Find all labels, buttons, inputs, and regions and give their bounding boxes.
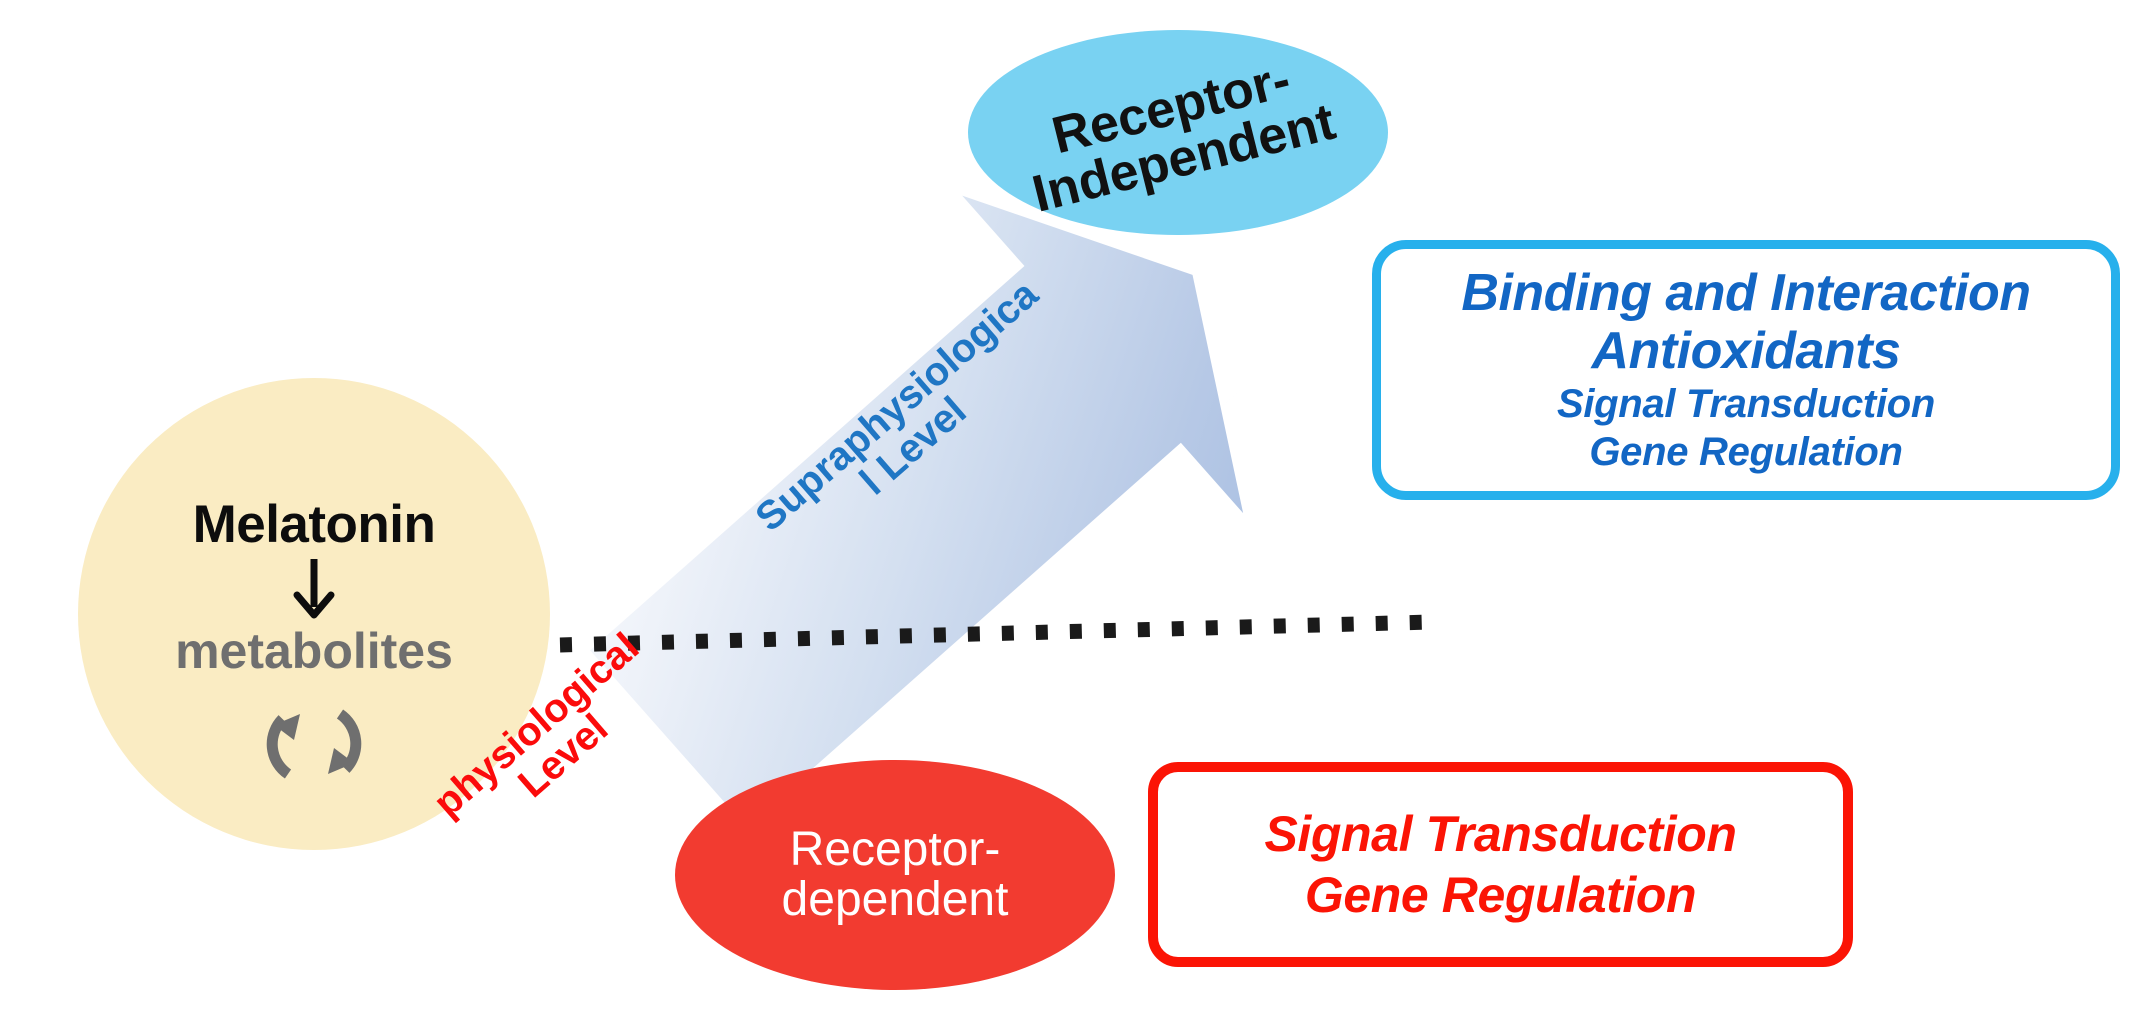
blue-box-line-3: Signal Transduction [1557,380,1935,428]
supraphysiological-level-label: Supraphysiologica l Level [749,292,1052,570]
diagram-canvas: Melatonin metabolites Supraphysiologica … [0,0,2155,1030]
red-box-line-1: Signal Transduction [1264,804,1736,865]
red-box-line-2: Gene Regulation [1305,865,1696,926]
blue-box-line-4: Gene Regulation [1589,428,1902,476]
receptor-dependent-ellipse [675,760,1115,990]
blue-box-line-2: Antioxidants [1592,322,1901,380]
receptor-independent-ellipse [968,30,1388,235]
blue-box-line-1: Binding and Interaction [1461,264,2030,322]
receptor-dependent-outcomes-box: Signal Transduction Gene Regulation [1148,762,1853,967]
receptor-independent-outcomes-box: Binding and Interaction Antioxidants Sig… [1372,240,2120,500]
